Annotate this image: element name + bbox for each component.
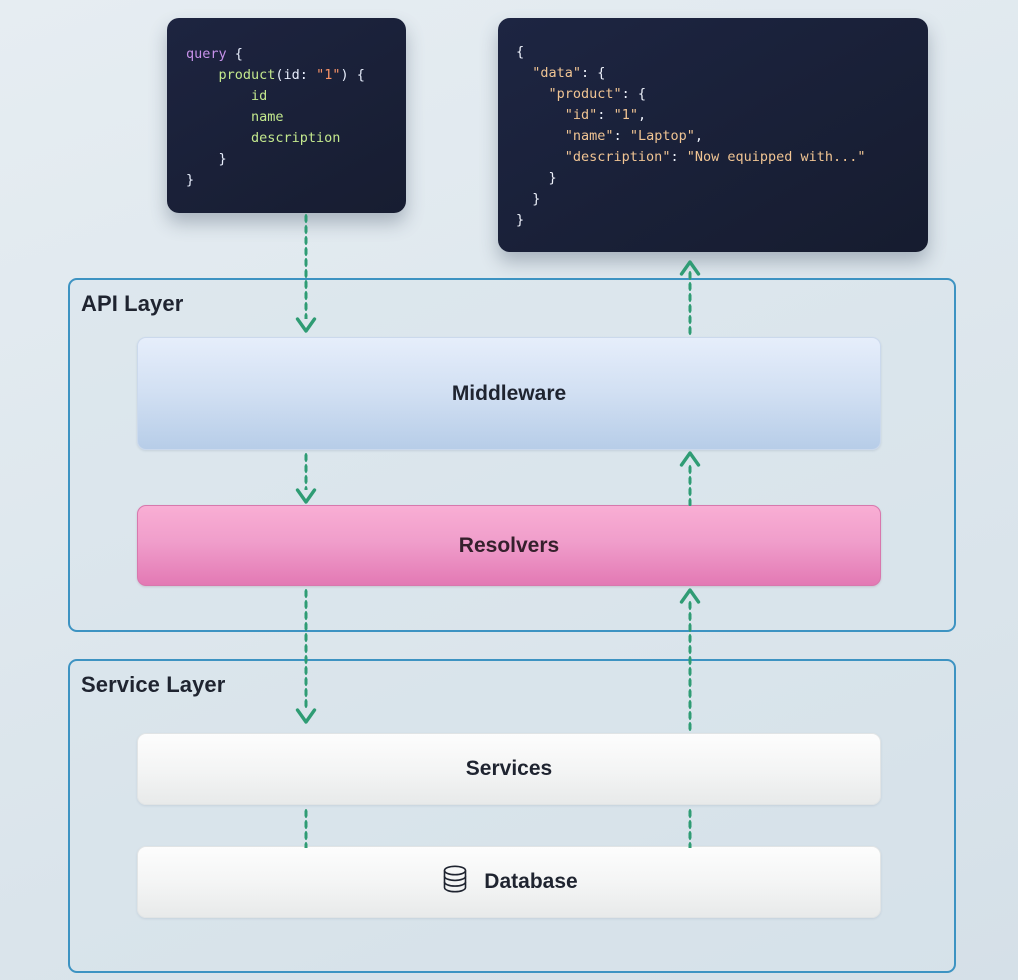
code-token: "id" [565, 107, 598, 123]
code-token: : [614, 128, 630, 144]
connector-resolvers-to-services [304, 588, 308, 710]
code-token: (id: [275, 67, 316, 83]
code-token: : { [622, 86, 646, 102]
service-layer-panel: Service Layer [68, 659, 956, 973]
graphql-response-panel: { "data": { "product": { "id": "1", "nam… [498, 18, 928, 252]
middleware-box[interactable]: Middleware [137, 337, 881, 450]
code-token: "description" [565, 149, 671, 165]
code-token [516, 65, 532, 81]
code-token: : { [581, 65, 605, 81]
code-token: "1" [614, 107, 638, 123]
code-token: "1" [316, 67, 340, 83]
code-token [516, 107, 565, 123]
database-icon [440, 863, 470, 901]
code-token [186, 109, 251, 125]
arrowhead-down-to-middleware [295, 317, 317, 335]
arrowhead-up-to-resolvers [679, 586, 701, 604]
diagram-canvas: query { product(id: "1") { id name descr… [0, 0, 1018, 980]
connector-resolvers-to-middleware [688, 464, 692, 506]
code-token [186, 130, 251, 146]
code-token: "Laptop" [630, 128, 695, 144]
code-token: "Now equipped with..." [687, 149, 866, 165]
connector-services-to-resolvers [688, 600, 692, 732]
code-token: "product" [549, 86, 622, 102]
code-token: ) { [340, 67, 364, 83]
arrowhead-up-to-middleware [679, 449, 701, 467]
code-token [186, 67, 219, 83]
connector-query-to-middleware [304, 213, 308, 319]
code-token: } [186, 172, 194, 188]
arrowhead-down-to-services [295, 708, 317, 726]
graphql-query-panel: query { product(id: "1") { id name descr… [167, 18, 406, 213]
code-token [516, 149, 565, 165]
code-token [516, 86, 549, 102]
code-token: , [695, 128, 703, 144]
connector-middleware-to-response [688, 270, 692, 336]
code-token: id [251, 88, 267, 104]
api-layer-title: API Layer [81, 291, 183, 317]
code-token: : [670, 149, 686, 165]
database-box[interactable]: Database [137, 846, 881, 918]
services-box[interactable]: Services [137, 733, 881, 805]
code-token: query [186, 46, 227, 62]
code-token: { [516, 44, 524, 60]
connector-middleware-to-resolvers [304, 452, 308, 490]
arrowhead-down-to-resolvers [295, 488, 317, 506]
code-token: } [186, 151, 227, 167]
services-label: Services [466, 757, 552, 781]
resolvers-box[interactable]: Resolvers [137, 505, 881, 586]
code-token: description [251, 130, 340, 146]
database-label: Database [484, 870, 577, 894]
code-token: name [251, 109, 284, 125]
code-token: "name" [565, 128, 614, 144]
code-token: } [516, 212, 524, 228]
code-token: } [516, 170, 557, 186]
connector-database-to-services [688, 808, 692, 848]
code-token: : [597, 107, 613, 123]
code-token: { [227, 46, 243, 62]
resolvers-label: Resolvers [459, 534, 559, 558]
code-token [186, 88, 251, 104]
code-token: product [219, 67, 276, 83]
middleware-label: Middleware [452, 382, 566, 406]
arrowhead-up-to-response [679, 258, 701, 276]
code-token: } [516, 191, 540, 207]
connector-services-to-database [304, 808, 308, 848]
code-token: , [638, 107, 646, 123]
service-layer-title: Service Layer [81, 672, 225, 698]
code-token: "data" [532, 65, 581, 81]
code-token [516, 128, 565, 144]
